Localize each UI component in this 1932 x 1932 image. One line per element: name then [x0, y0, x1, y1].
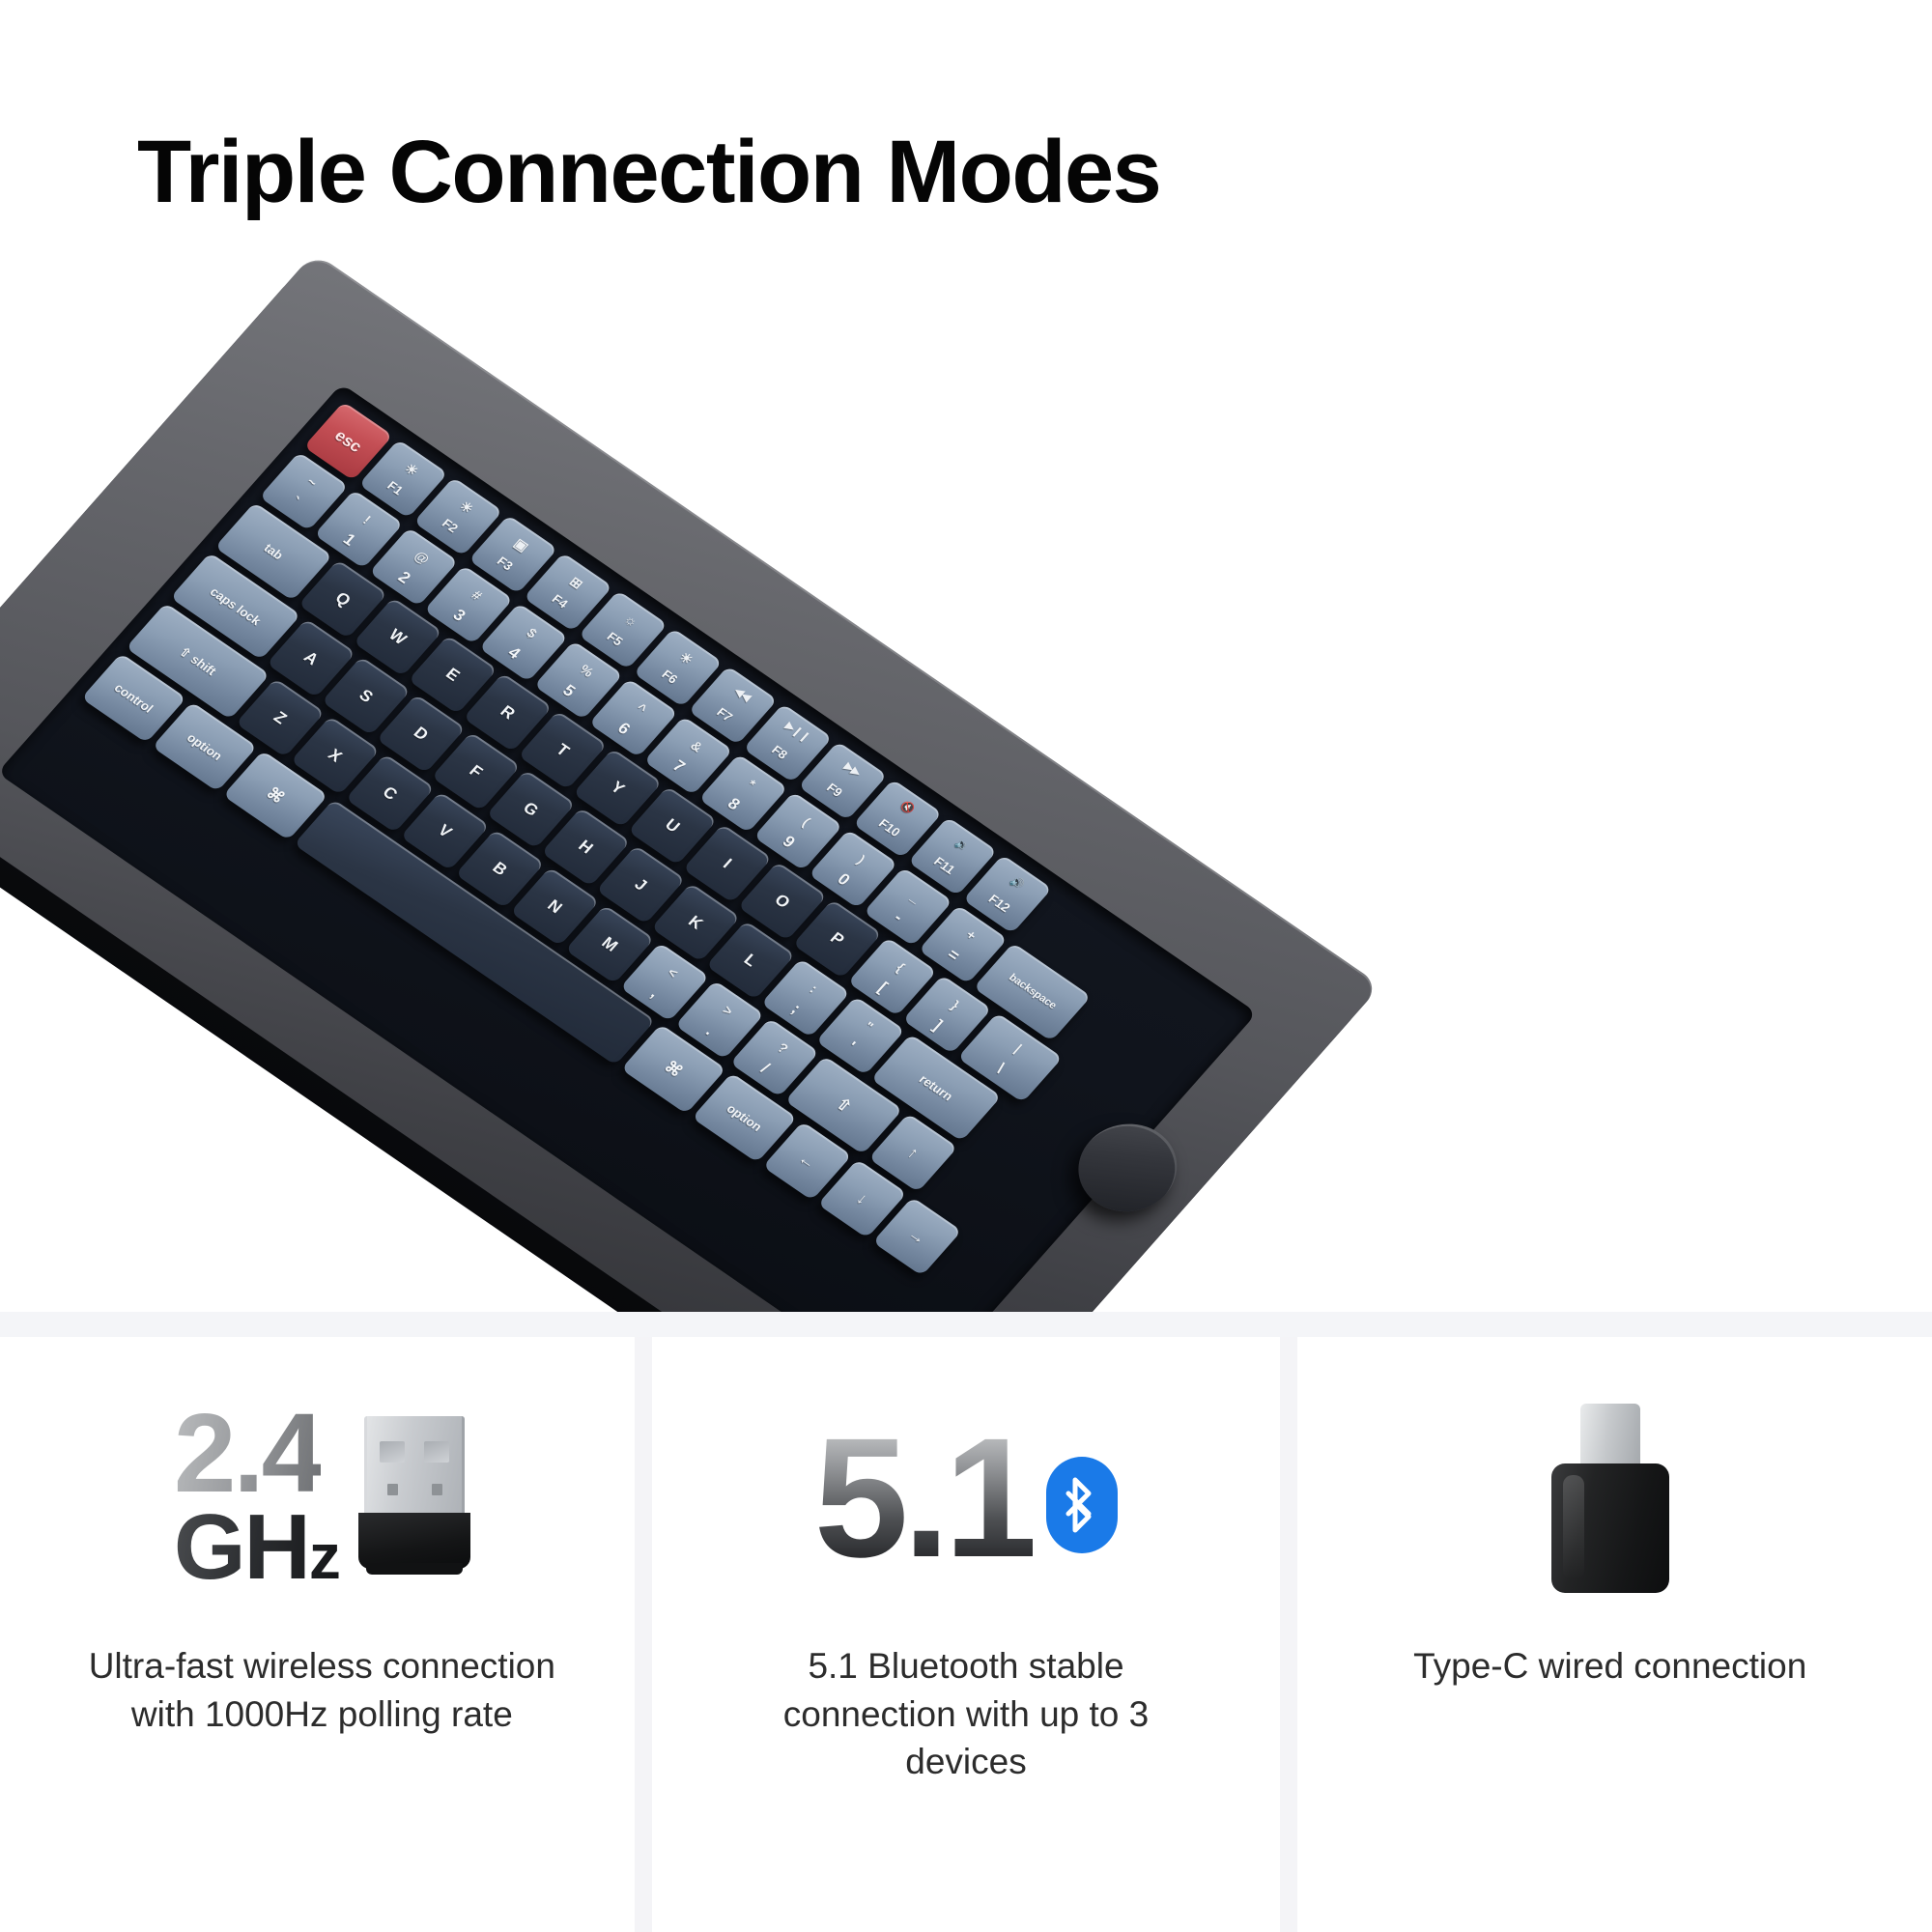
bluetooth-glyph	[1063, 1476, 1101, 1534]
typec-highlight	[1563, 1475, 1584, 1579]
section-divider-band	[0, 1312, 1932, 1337]
hero-section: Triple Connection Modes esc ☀F1 ☀F2 ▣F3 …	[0, 0, 1932, 1312]
bluetooth-icon	[1046, 1457, 1118, 1553]
feature-columns: 2.4 GHz Ultra-fast wireless connection w…	[0, 1337, 1932, 1932]
feature-caption-24ghz: Ultra-fast wireless connection with 1000…	[80, 1642, 563, 1738]
keyboard-top-frame: esc ☀F1 ☀F2 ▣F3 ⊞F4 ☼F5 ☀F6 ◀◀F7 ▶❙❙F8 ▶…	[0, 252, 1381, 1312]
ghz-value: 2.4	[174, 1406, 321, 1500]
usb-connector	[364, 1416, 465, 1517]
feature-icon-typec	[1288, 1378, 1932, 1619]
usb-pin-right	[432, 1484, 442, 1495]
feature-wireless-24ghz: 2.4 GHz Ultra-fast wireless connection w…	[0, 1337, 644, 1932]
usb-type-c-icon	[1551, 1404, 1669, 1593]
feature-icon-bluetooth: 5.1	[644, 1378, 1289, 1619]
feature-caption-typec: Type-C wired connection	[1413, 1642, 1806, 1690]
ghz-unit: GHz	[174, 1505, 339, 1590]
keyboard-product-image: esc ☀F1 ☀F2 ▣F3 ⊞F4 ☼F5 ☀F6 ◀◀F7 ▶❙❙F8 ▶…	[246, 309, 1695, 1312]
usb-slot-right	[424, 1441, 449, 1463]
feature-caption-bluetooth: 5.1 Bluetooth stable connection with up …	[724, 1642, 1207, 1786]
ghz-badge: 2.4 GHz	[174, 1406, 339, 1590]
feature-bluetooth-51: 5.1 5.1 Bluetooth stable connection with…	[644, 1337, 1289, 1932]
keyboard-body: esc ☀F1 ☀F2 ▣F3 ⊞F4 ☼F5 ☀F6 ◀◀F7 ▶❙❙F8 ▶…	[0, 252, 1381, 1312]
bluetooth-badge: 5.1	[814, 1429, 1119, 1568]
usb-foot	[366, 1563, 463, 1575]
usb-slot-left	[380, 1441, 405, 1463]
page-title: Triple Connection Modes	[137, 128, 1160, 216]
usb-pin-left	[387, 1484, 398, 1495]
feature-icon-24ghz: 2.4 GHz	[0, 1378, 644, 1619]
feature-wired-typec: Type-C wired connection	[1288, 1337, 1932, 1932]
usb-dongle-icon	[358, 1416, 470, 1580]
bluetooth-version-value: 5.1	[814, 1429, 1034, 1568]
usb-body	[358, 1513, 470, 1569]
